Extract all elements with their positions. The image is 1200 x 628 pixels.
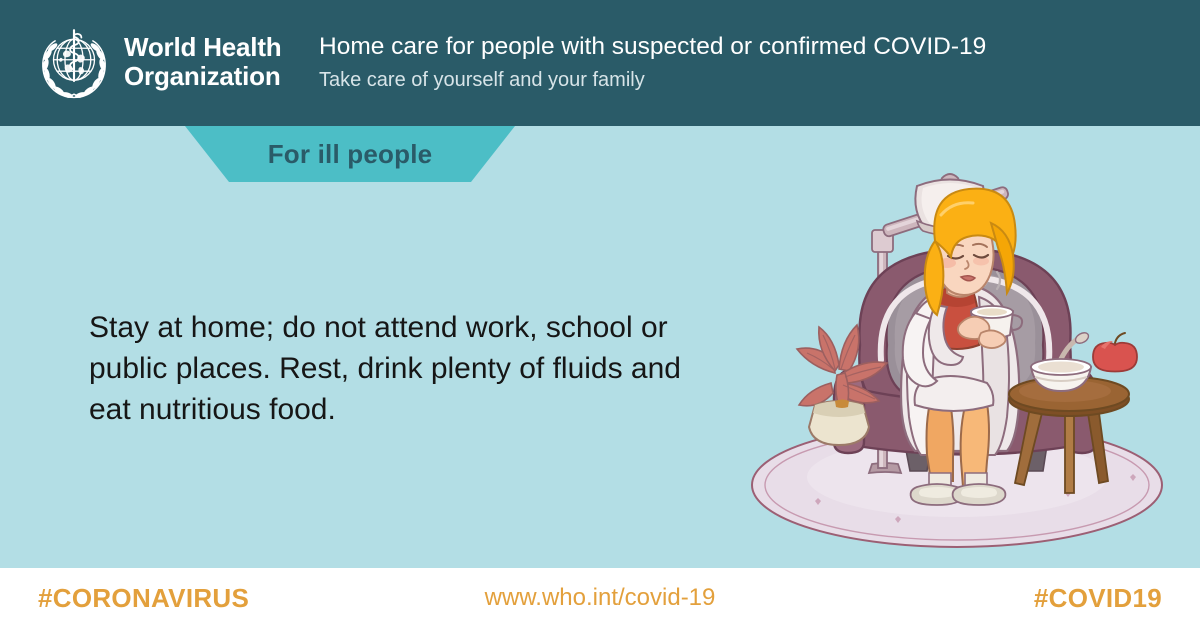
header-title: Home care for people with suspected or c… [319, 33, 986, 61]
main-message: Stay at home; do not attend work, school… [89, 307, 709, 430]
footer-bar: #CORONAVIRUS www.who.int/covid-19 #COVID… [0, 568, 1200, 628]
footer-url[interactable]: www.who.int/covid-19 [0, 568, 1200, 628]
section-banner: For ill people [185, 126, 515, 186]
who-wordmark: World Health Organization [124, 33, 281, 91]
illustration-svg [735, 155, 1175, 555]
who-wordmark-line2: Organization [124, 62, 281, 91]
poster-root: World Health Organization Home care for … [0, 0, 1200, 628]
header-bar: World Health Organization Home care for … [0, 0, 1200, 126]
header-subtitle: Take care of yourself and your family [319, 68, 645, 92]
who-emblem-icon [33, 22, 115, 104]
illustration-sick-woman-at-home [735, 155, 1175, 555]
slippers [911, 484, 1006, 505]
banner-label: For ill people [185, 126, 515, 186]
who-wordmark-line1: World Health [124, 33, 281, 62]
footer-hashtag-right: #COVID19 [1034, 568, 1162, 628]
apple [1093, 333, 1137, 372]
